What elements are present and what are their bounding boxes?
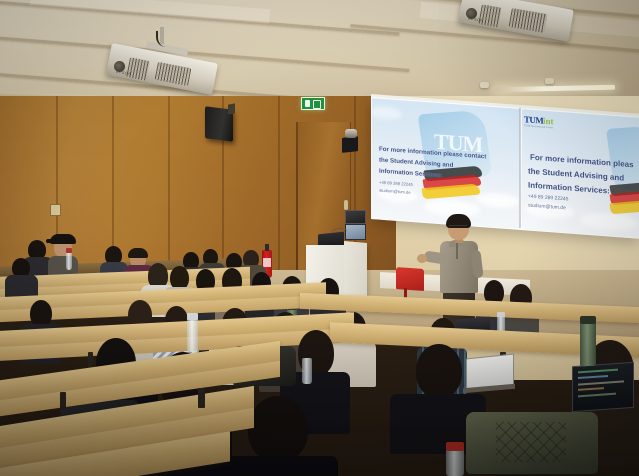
presenter-left-hand [417,254,427,263]
water-bottle-4 [302,358,312,384]
thermos-tumbler-2 [580,322,596,366]
projector-left: EPSON [98,35,228,100]
projector-right: EPSON [452,0,602,50]
screen-panel-right: TUM int TUM International Center For mor… [521,108,639,239]
fire-extinguisher-label [263,258,271,267]
bench-support-3 [60,392,66,410]
wall-socket-plate [50,204,61,216]
water-bottle-3 [187,318,198,352]
presenter-zip [456,243,458,259]
bench-support-4 [198,388,205,408]
red-chair [396,267,424,291]
water-bottle-1 [66,252,72,270]
projection-screen: TUM For more information please contact … [371,97,639,237]
lectern-side-panel [344,241,367,301]
lectern-upper-monitor [345,210,366,224]
thermos-lid-2 [580,316,596,324]
backpack-olive [466,412,598,474]
bottle-cap-5 [446,442,464,451]
bottle-cap-2 [497,312,505,317]
bench-support-1 [88,352,93,368]
speaker-bracket [228,103,235,114]
bottle-cap-3 [187,313,198,320]
microphone-icon [329,227,348,240]
water-bottle-5 [446,448,464,476]
ceiling-spot-1 [545,78,554,84]
exit-sign-icon [301,97,325,110]
lecture-hall-photo: EPSON EPSON [0,0,639,476]
wall-camera-icon [345,129,357,138]
presenter-right-arm [470,249,483,278]
door-handle[interactable] [344,200,348,210]
screen-panel-left: TUM For more information please contact … [371,97,521,230]
ceiling-spot-2 [480,82,489,88]
wall-camera-mount [342,136,358,153]
bottle-cap-1 [66,248,72,253]
glasses-icon [449,225,467,229]
